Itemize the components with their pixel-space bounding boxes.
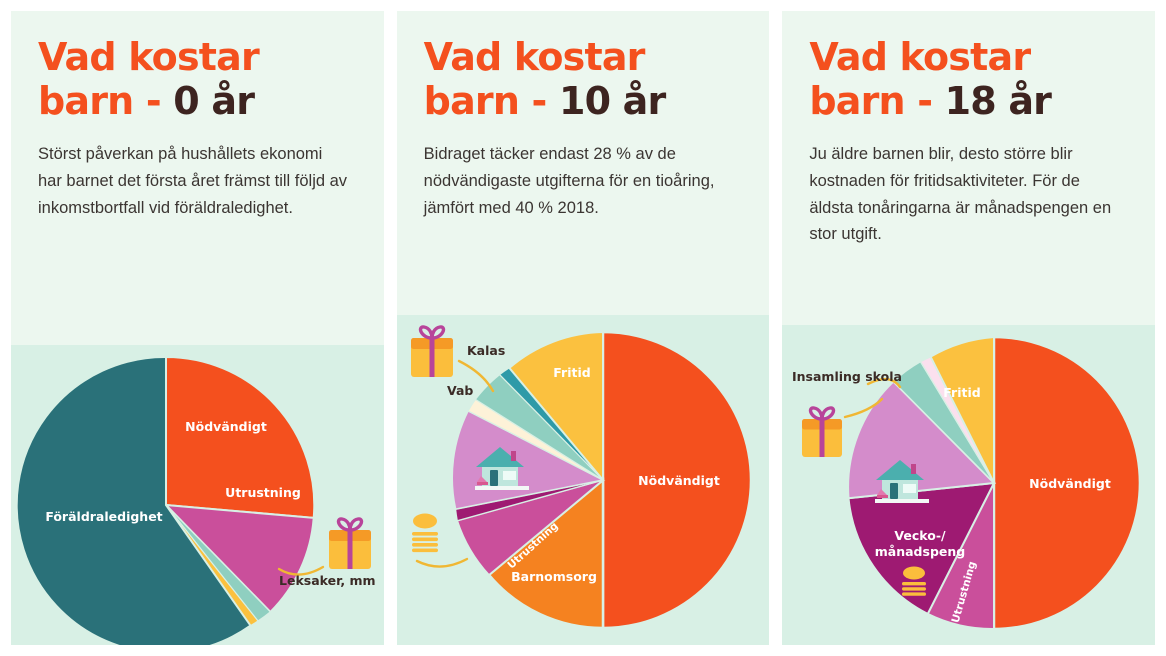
card-title-main: Vad kostar <box>809 35 1030 79</box>
outside-label-vab: Vab <box>447 383 473 398</box>
outside-label-kalas: Kalas <box>467 343 505 358</box>
slice-label-vecko-line1: Vecko-/ <box>895 528 947 543</box>
gift-icon <box>329 519 371 569</box>
slice-label-nodvandigt: Nödvändigt <box>185 419 267 434</box>
outside-label-insamling-skola: Insamling skola <box>792 369 902 384</box>
card-title-age: 10 år <box>559 79 666 123</box>
card-barn-0-ar: Vad kostar barn - 0 år Störst påverkan p… <box>11 11 384 645</box>
pie-chart-0-ar: Nödvändigt Utrustning Föräldraledighet L… <box>11 345 384 645</box>
card-barn-10-ar: Vad kostar barn - 10 år Bidraget täcker … <box>397 11 770 645</box>
card-title-main: Vad kostar <box>38 35 259 79</box>
card-title-age: 0 år <box>173 79 254 123</box>
chart-area-2: Nödvändigt Fritid Vecko-/ månadspeng Utr… <box>782 325 1155 645</box>
pie-wrap-2: Nödvändigt Fritid Vecko-/ månadspeng Utr… <box>782 325 1155 645</box>
slice-label-nodvandigt: Nödvändigt <box>638 473 720 488</box>
pie-chart-18-ar: Nödvändigt Fritid Vecko-/ månadspeng Utr… <box>782 325 1155 645</box>
card-barn-18-ar: Vad kostar barn - 18 år Ju äldre barnen … <box>782 11 1155 645</box>
slice-label-fritid: Fritid <box>553 365 590 380</box>
slice-label-foraldraledighet: Föräldraledighet <box>45 509 162 524</box>
slice-label-barnomsorg: Barnomsorg <box>511 569 597 584</box>
cards-board: Vad kostar barn - 0 år Störst påverkan p… <box>0 0 1166 656</box>
card-body-text: Bidraget täcker endast 28 % av de nödvän… <box>424 141 734 221</box>
pie-wrap-1: Nödvändigt Barnomsorg Utrustning Fritid … <box>397 315 770 645</box>
slice-label-fritid: Fritid <box>944 385 981 400</box>
card-body-text: Ju äldre barnen blir, desto större blir … <box>809 141 1119 248</box>
page-title: Vad kostar barn - 0 år <box>38 35 358 123</box>
pie-slices-0 <box>17 357 315 645</box>
outside-label-leksaker: Leksaker, mm <box>279 573 376 588</box>
card-title-age: 18 år <box>945 79 1052 123</box>
card-title-prefix: barn - <box>38 79 173 123</box>
chart-area-0: Nödvändigt Utrustning Föräldraledighet L… <box>11 345 384 645</box>
gift-icon <box>411 327 453 377</box>
slice-label-nodvandigt: Nödvändigt <box>1030 476 1112 491</box>
chart-area-1: Nödvändigt Barnomsorg Utrustning Fritid … <box>397 315 770 645</box>
pie-wrap-0: Nödvändigt Utrustning Föräldraledighet L… <box>11 345 384 645</box>
card-body-text: Störst påverkan på hushållets ekonomi ha… <box>38 141 348 221</box>
card-title-prefix: barn - <box>809 79 944 123</box>
gift-icon <box>802 408 842 457</box>
page-title: Vad kostar barn - 10 år <box>424 35 744 123</box>
slice-label-vecko-line2: månadspeng <box>875 544 965 559</box>
page-title: Vad kostar barn - 18 år <box>809 35 1129 123</box>
slice-label-utrustning: Utrustning <box>225 485 301 500</box>
card-title-prefix: barn - <box>424 79 559 123</box>
pie-chart-10-ar: Nödvändigt Barnomsorg Utrustning Fritid … <box>397 315 770 645</box>
card-title-main: Vad kostar <box>424 35 645 79</box>
